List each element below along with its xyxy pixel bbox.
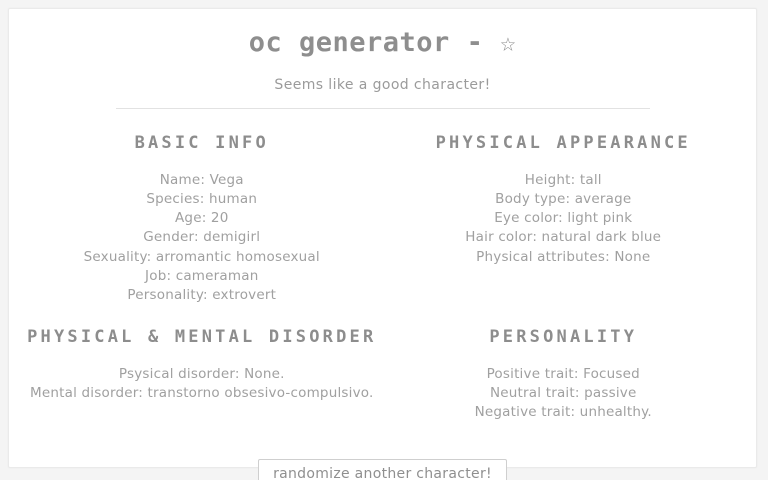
- randomize-another-character-button[interactable]: randomize another character!: [258, 459, 507, 480]
- field-hair-color: Hair color: natural dark blue: [383, 228, 745, 247]
- field-job: Job: cameraman: [21, 267, 383, 286]
- field-eye-color: Eye color: light pink: [383, 209, 745, 228]
- page-title-text: oc generator -: [249, 27, 500, 58]
- section-body-physical-appearance: Height: tall Body type: average Eye colo…: [383, 171, 745, 267]
- section-title-physical-appearance: PHYSICAL APPEARANCE: [383, 133, 745, 153]
- field-gender: Gender: demigirl: [21, 228, 383, 247]
- field-physical-attributes: Physical attributes: None: [383, 248, 745, 267]
- section-body-basic-info: Name: Vega Species: human Age: 20 Gender…: [21, 171, 383, 305]
- section-body-physical-mental-disorder: Psysical disorder: None. Mental disorder…: [21, 365, 383, 403]
- section-title-basic-info: BASIC INFO: [21, 133, 383, 153]
- section-personality: PERSONALITY Positive trait: Focused Neut…: [383, 305, 745, 422]
- page-subtitle: Seems like a good character!: [9, 59, 756, 93]
- app-root: oc generator - ☆ Seems like a good chara…: [0, 0, 768, 480]
- field-body-type: Body type: average: [383, 190, 745, 209]
- field-personality: Personality: extrovert: [21, 286, 383, 305]
- section-physical-appearance: PHYSICAL APPEARANCE Height: tall Body ty…: [383, 133, 745, 305]
- section-title-physical-mental-disorder: PHYSICAL & MENTAL DISORDER: [21, 327, 383, 347]
- section-title-personality: PERSONALITY: [383, 327, 745, 347]
- section-basic-info: BASIC INFO Name: Vega Species: human Age…: [21, 133, 383, 305]
- section-body-personality: Positive trait: Focused Neutral trait: p…: [383, 365, 745, 422]
- generator-card: oc generator - ☆ Seems like a good chara…: [8, 8, 757, 468]
- field-age: Age: 20: [21, 209, 383, 228]
- field-negative-trait: Negative trait: unhealthy.: [383, 403, 745, 422]
- field-mental-disorder: Mental disorder: transtorno obsesivo-com…: [21, 384, 383, 403]
- field-physical-disorder: Psysical disorder: None.: [21, 365, 383, 384]
- field-species: Species: human: [21, 190, 383, 209]
- page-title: oc generator - ☆: [9, 9, 756, 59]
- section-physical-mental-disorder: PHYSICAL & MENTAL DISORDER Psysical diso…: [21, 305, 383, 422]
- sections-grid: BASIC INFO Name: Vega Species: human Age…: [9, 109, 756, 423]
- field-name: Name: Vega: [21, 171, 383, 190]
- field-sexuality: Sexuality: arromantic homosexual: [21, 248, 383, 267]
- star-icon: ☆: [500, 28, 516, 58]
- footer-button-row: randomize another character!: [9, 459, 756, 480]
- field-positive-trait: Positive trait: Focused: [383, 365, 745, 384]
- field-height: Height: tall: [383, 171, 745, 190]
- field-neutral-trait: Neutral trait: passive: [383, 384, 745, 403]
